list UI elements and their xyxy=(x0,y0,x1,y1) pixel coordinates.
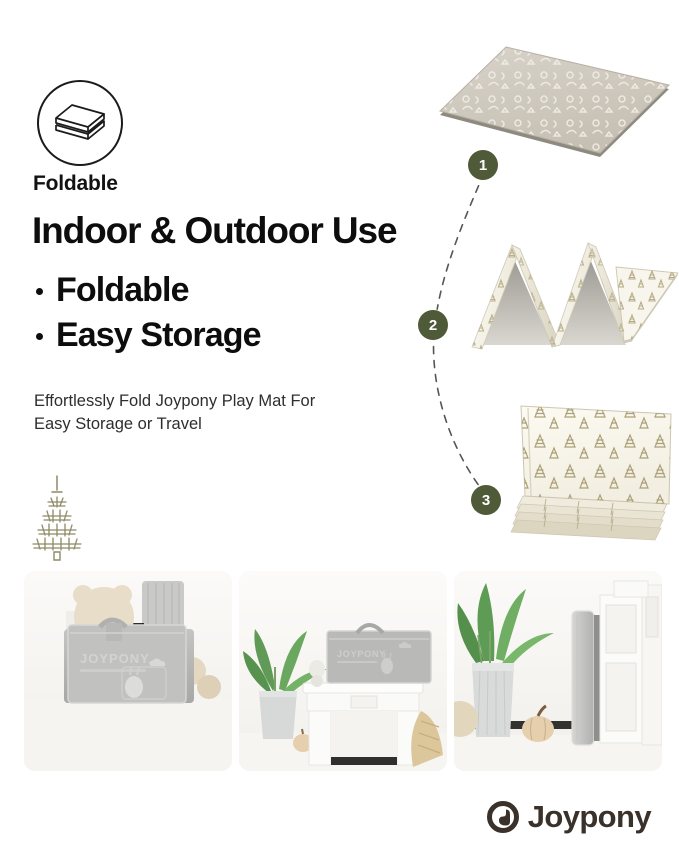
bullet-label: Foldable xyxy=(56,268,189,313)
brand-logo-text: Joypony xyxy=(528,799,651,835)
foldable-badge: Foldable xyxy=(33,80,183,196)
page-title: Indoor & Outdoor Use xyxy=(32,212,396,251)
step-2-accordion-folded-image xyxy=(466,223,679,358)
stacked-sheets-icon xyxy=(37,80,123,166)
joypony-circle-mark-icon xyxy=(487,801,519,833)
folding-steps-diagram: 1 xyxy=(406,45,679,555)
photo-carry-bag-teddy: JOYPONY xyxy=(24,571,232,771)
list-item: Foldable xyxy=(36,268,261,313)
photo-bag-beside-cabinet xyxy=(454,571,662,771)
foldable-badge-label: Foldable xyxy=(33,172,183,196)
bullet-label: Easy Storage xyxy=(56,313,261,358)
svg-text:JOYPONY: JOYPONY xyxy=(80,651,150,666)
photo-bag-on-mantel: JOYPONY xyxy=(239,571,447,771)
feature-bullet-list: Foldable Easy Storage xyxy=(36,268,261,358)
bullet-dot-icon xyxy=(36,333,43,340)
list-item: Easy Storage xyxy=(36,313,261,358)
subtitle-text: Effortlessly Fold Joypony Play Mat For E… xyxy=(34,390,334,436)
brand-logo: Joypony xyxy=(487,799,651,835)
lifestyle-photo-strip: JOYPONY xyxy=(24,571,662,771)
bullet-dot-icon xyxy=(36,288,43,295)
infographic-canvas: Foldable Indoor & Outdoor Use Foldable E… xyxy=(0,0,679,849)
step-badge-3: 3 xyxy=(471,485,501,515)
stacked-sheets-glyph xyxy=(52,102,110,148)
step-1-flat-mat-image xyxy=(434,45,679,170)
svg-text:JOYPONY: JOYPONY xyxy=(337,649,386,659)
decorative-pine-tree-icon xyxy=(22,472,92,569)
step-badge-2: 2 xyxy=(418,310,448,340)
step-badge-1: 1 xyxy=(468,150,498,180)
step-3-folded-stack-image xyxy=(501,400,679,545)
